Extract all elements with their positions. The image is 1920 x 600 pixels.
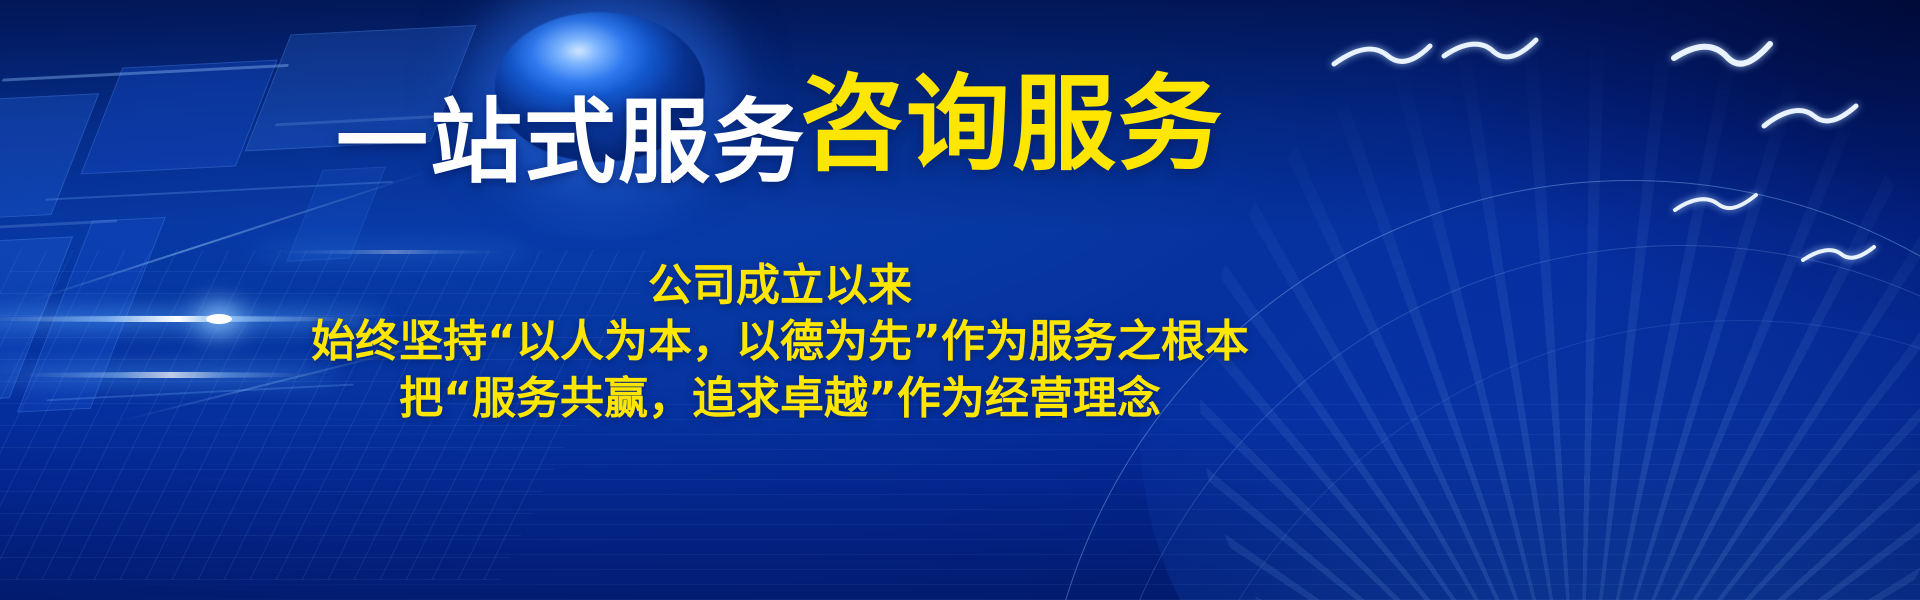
- headline: 一站式服务咨询服务: [0, 86, 1560, 190]
- seagull-icon: [1672, 190, 1762, 222]
- lens-flare-streak: [260, 250, 520, 254]
- banner-canvas: 一站式服务咨询服务 公司成立以来 始终坚持“以人为本，以德为先”作为服务之根本 …: [0, 0, 1920, 600]
- body-copy: 公司成立以来 始终坚持“以人为本，以德为先”作为服务之根本 把“服务共赢，追求卓…: [0, 258, 1560, 427]
- headline-primary: 一站式服务: [336, 89, 806, 196]
- body-line: 把“服务共赢，追求卓越”作为经营理念: [0, 371, 1560, 427]
- seagull-icon: [1440, 34, 1550, 74]
- seagull-icon: [1760, 100, 1865, 138]
- seagull-icon: [1670, 36, 1785, 82]
- seagull-icon: [1800, 242, 1880, 270]
- headline-accent: 咨询服务: [800, 63, 1224, 185]
- body-line: 始终坚持“以人为本，以德为先”作为服务之根本: [0, 314, 1560, 370]
- body-line: 公司成立以来: [0, 258, 1560, 314]
- seagull-icon: [1330, 38, 1450, 80]
